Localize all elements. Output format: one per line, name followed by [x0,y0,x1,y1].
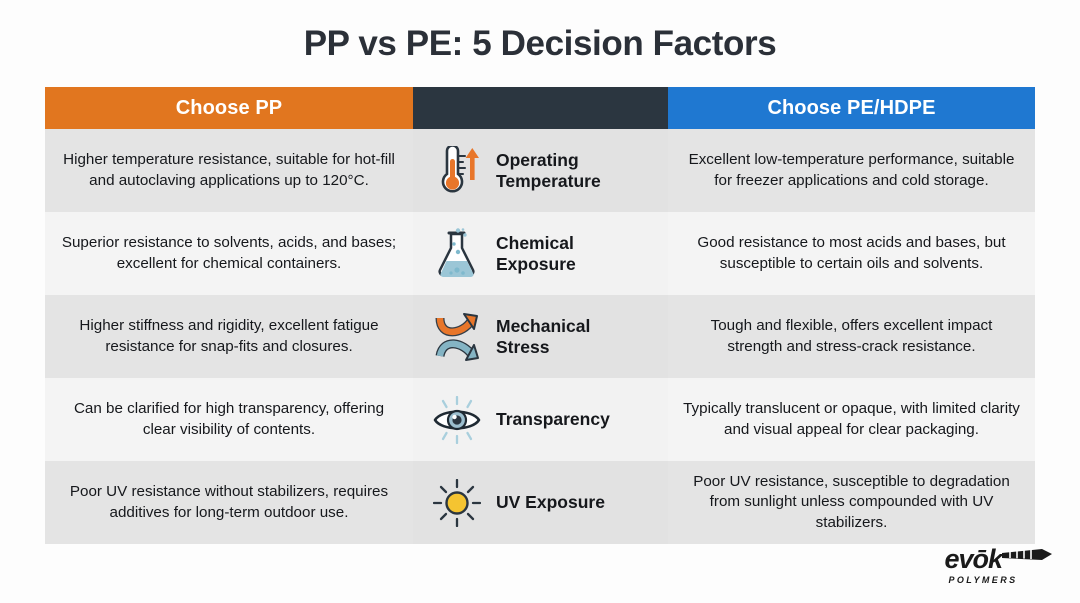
pp-cell: Higher stiffness and rigidity, excellent… [45,295,413,378]
sun-icon [431,474,483,532]
factor-label: Chemical Exposure [496,233,576,274]
pp-cell: Superior resistance to solvents, acids, … [45,212,413,295]
thermometer-icon [431,142,483,200]
pp-cell: Poor UV resistance without stabilizers, … [45,461,413,544]
factor-cell: Transparency [413,378,668,461]
factor-label: Operating Temperature [496,150,601,191]
table-row: Higher stiffness and rigidity, excellent… [45,295,1035,378]
table-row: Superior resistance to solvents, acids, … [45,212,1035,295]
factor-label: Transparency [496,409,610,429]
pe-cell: Excellent low-temperature performance, s… [668,129,1035,212]
factor-cell: Operating Temperature [413,129,668,212]
header-factor [413,87,668,129]
flask-icon [431,225,483,283]
table-row: Higher temperature resistance, suitable … [45,129,1035,212]
pe-cell: Tough and flexible, offers excellent imp… [668,295,1035,378]
table-header-row: Choose PP Choose PE/HDPE [45,87,1035,129]
pp-cell: Can be clarified for high transparency, … [45,378,413,461]
pp-cell: Higher temperature resistance, suitable … [45,129,413,212]
factor-cell: Chemical Exposure [413,212,668,295]
factor-cell: UV Exposure [413,461,668,544]
logo-subtitle: POLYMERS [908,575,1058,585]
factor-label: Mechanical Stress [496,316,590,357]
pe-cell: Typically translucent or opaque, with li… [668,378,1035,461]
table-row: Poor UV resistance without stabilizers, … [45,461,1035,544]
eye-icon [431,391,483,449]
header-choose-pe: Choose PE/HDPE [668,87,1035,129]
logo-wordmark-row: evōk [908,545,1058,574]
comparison-table: Choose PP Choose PE/HDPE Higher temperat… [45,87,1035,544]
logo-wordmark: evōk [944,546,1002,573]
factor-cell: Mechanical Stress [413,295,668,378]
pe-cell: Good resistance to most acids and bases,… [668,212,1035,295]
header-choose-pp: Choose PP [45,87,413,129]
slide-root: PP vs PE: 5 Decision Factors Choose PP C… [0,0,1080,603]
page-title: PP vs PE: 5 Decision Factors [0,0,1080,74]
crossing-arrows-icon [431,308,483,366]
factor-label-line2: Stress [496,337,550,357]
screw-icon [1002,545,1058,574]
factor-label-line1: Mechanical [496,316,590,336]
factor-label-line2: Exposure [496,254,576,274]
factor-label: UV Exposure [496,492,605,512]
factor-label-line1: Chemical [496,233,574,253]
brand-logo: evōk POLYMERS [908,545,1058,591]
factor-label-line2: Temperature [496,171,601,191]
factor-label-line1: Operating [496,150,579,170]
pe-cell: Poor UV resistance, susceptible to degra… [668,461,1035,544]
table-row: Can be clarified for high transparency, … [45,378,1035,461]
